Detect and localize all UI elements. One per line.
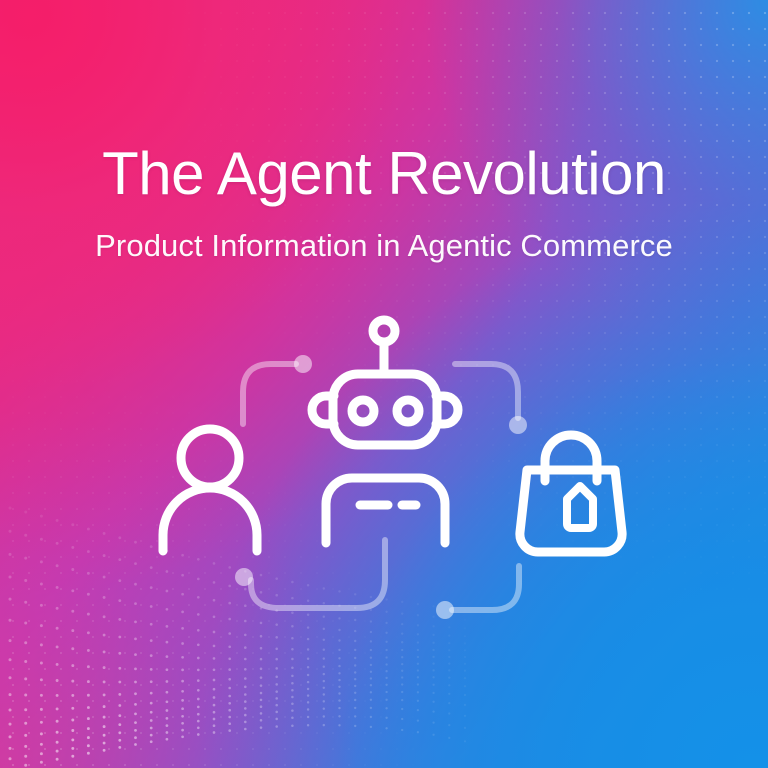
dot-grid-texture-bottom-left: [0, 0, 768, 768]
poster-canvas: The Agent Revolution Product Information…: [0, 0, 768, 768]
poster-title: The Agent Revolution: [0, 142, 768, 205]
headline-block: The Agent Revolution Product Information…: [0, 142, 768, 264]
poster-subtitle: Product Information in Agentic Commerce: [0, 227, 768, 264]
